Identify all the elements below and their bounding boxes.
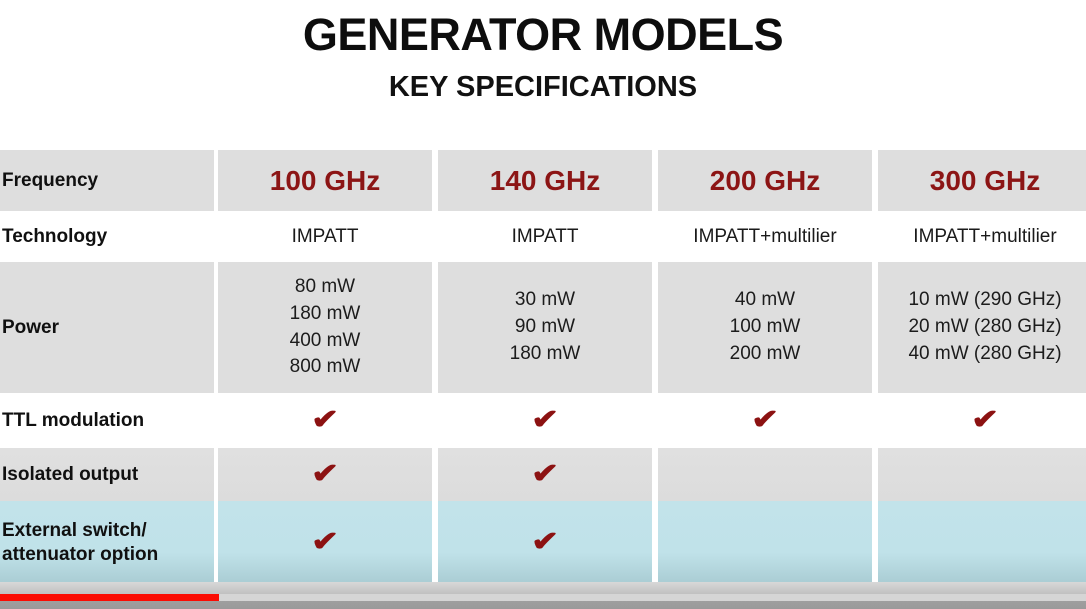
checkmark-icon: ✔	[311, 461, 339, 489]
table-row-isolated-output: Isolated output ✔ ✔	[0, 448, 1086, 501]
cell-frequency-col4: 300 GHz	[878, 150, 1086, 211]
cell-technology-col3: IMPATT+multilier	[658, 213, 872, 260]
table-row-frequency: Frequency 100 GHz 140 GHz 200 GHz 300 GH…	[0, 150, 1086, 211]
checkmark-icon: ✔	[751, 407, 779, 435]
table-row-power: Power 80 mW 180 mW 400 mW 800 mW 30 mW 9…	[0, 262, 1086, 393]
cell-technology-col1: IMPATT	[218, 213, 432, 260]
power-value: 40 mW	[730, 287, 801, 314]
cell-ttl-col1: ✔	[218, 395, 432, 446]
page-title: GENERATOR MODELS	[0, 0, 1086, 57]
cell-ttl-col2: ✔	[438, 395, 652, 446]
checkmark-icon: ✔	[531, 407, 559, 435]
row-label-power: Power	[0, 262, 214, 393]
external-switch-label-line2: attenuator option	[2, 543, 158, 566]
cell-external-col2: ✔	[438, 501, 652, 584]
page-subtitle: KEY SPECIFICATIONS	[0, 57, 1086, 102]
power-value: 20 mW (280 GHz)	[908, 314, 1061, 341]
power-value: 180 mW	[510, 341, 581, 368]
cell-power-col1: 80 mW 180 mW 400 mW 800 mW	[218, 262, 432, 393]
external-switch-label-line1: External switch/	[2, 519, 158, 542]
power-value: 800 mW	[290, 354, 361, 381]
checkmark-icon: ✔	[531, 529, 559, 557]
cell-ttl-col3: ✔	[658, 395, 872, 446]
cell-external-col3	[658, 501, 872, 584]
cell-isolated-col3	[658, 448, 872, 501]
power-value: 90 mW	[510, 314, 581, 341]
row-label-technology: Technology	[0, 213, 214, 260]
cell-power-col4: 10 mW (290 GHz) 20 mW (280 GHz) 40 mW (2…	[878, 262, 1086, 393]
row-label-isolated-output: Isolated output	[0, 448, 214, 501]
row-label-external-switch: External switch/ attenuator option	[0, 501, 214, 584]
table-row-ttl-modulation: TTL modulation ✔ ✔ ✔ ✔	[0, 395, 1086, 446]
progress-bar-bottom-shade	[0, 601, 1086, 609]
specifications-table: Frequency 100 GHz 140 GHz 200 GHz 300 GH…	[0, 150, 1086, 584]
progress-bar[interactable]	[0, 582, 1086, 609]
power-value: 40 mW (280 GHz)	[908, 341, 1061, 368]
cell-power-col3: 40 mW 100 mW 200 mW	[658, 262, 872, 393]
cell-isolated-col1: ✔	[218, 448, 432, 501]
checkmark-icon: ✔	[311, 407, 339, 435]
checkmark-icon: ✔	[311, 529, 339, 557]
power-value: 400 mW	[290, 328, 361, 355]
progress-bar-fill[interactable]	[0, 594, 219, 601]
table-row-technology: Technology IMPATT IMPATT IMPATT+multilie…	[0, 213, 1086, 260]
cell-power-col2: 30 mW 90 mW 180 mW	[438, 262, 652, 393]
progress-bar-top-shade	[0, 582, 1086, 594]
cell-technology-col4: IMPATT+multilier	[878, 213, 1086, 260]
cell-isolated-col2: ✔	[438, 448, 652, 501]
cell-frequency-col3: 200 GHz	[658, 150, 872, 211]
table-row-external-switch: External switch/ attenuator option ✔ ✔	[0, 501, 1086, 584]
cell-frequency-col1: 100 GHz	[218, 150, 432, 211]
power-value: 80 mW	[290, 274, 361, 301]
checkmark-icon: ✔	[531, 461, 559, 489]
power-value: 100 mW	[730, 314, 801, 341]
power-value: 10 mW (290 GHz)	[908, 287, 1061, 314]
frequency-value: 200 GHz	[710, 165, 821, 197]
row-label-frequency: Frequency	[0, 150, 214, 211]
power-value: 200 mW	[730, 341, 801, 368]
frequency-value: 100 GHz	[270, 165, 381, 197]
frequency-value: 140 GHz	[490, 165, 601, 197]
cell-external-col1: ✔	[218, 501, 432, 584]
row-label-ttl-modulation: TTL modulation	[0, 395, 214, 446]
cell-ttl-col4: ✔	[878, 395, 1086, 446]
frequency-value: 300 GHz	[930, 165, 1041, 197]
cell-frequency-col2: 140 GHz	[438, 150, 652, 211]
checkmark-icon: ✔	[971, 407, 999, 435]
cell-technology-col2: IMPATT	[438, 213, 652, 260]
cell-external-col4	[878, 501, 1086, 584]
power-value: 30 mW	[510, 287, 581, 314]
cell-isolated-col4	[878, 448, 1086, 501]
power-value: 180 mW	[290, 301, 361, 328]
